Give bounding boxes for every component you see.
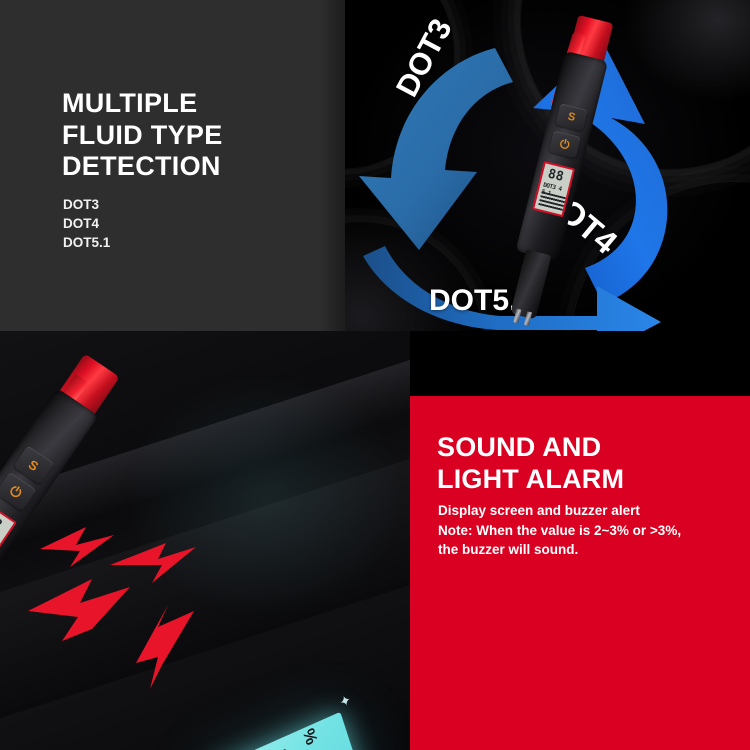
- fluid-type-list: DOT3 DOT4 DOT5.1: [63, 195, 323, 252]
- panel-multiple-fluid-type-detection: MULTIPLE FLUID TYPE DETECTION DOT3 DOT4 …: [0, 0, 345, 331]
- title-line-1: SOUND AND: [437, 432, 737, 464]
- body-line-1: Display screen and buzzer alert: [438, 501, 743, 521]
- panel-sound-and-light-alarm: SOUND AND LIGHT ALARM Display screen and…: [410, 396, 750, 750]
- lcd-unit: %: [298, 726, 321, 749]
- headline-line-2: FLUID TYPE: [62, 120, 332, 152]
- lightning-bolt-icon: [136, 605, 194, 689]
- product-feature-collage: MULTIPLE FLUID TYPE DETECTION DOT3 DOT4 …: [0, 0, 750, 750]
- panel-fluid-type-cycle: DOT3 DOT4 DOT5.1 S ⏻ 88 DOT3 4 5.1: [345, 0, 750, 331]
- panel-edge-shadow: [319, 0, 345, 331]
- lcd-value: 88: [299, 746, 349, 750]
- list-item: DOT3: [63, 195, 323, 214]
- headline-line-1: MULTIPLE: [62, 88, 332, 120]
- title-line-2: LIGHT ALARM: [437, 464, 737, 496]
- lightning-bolt-icon: [110, 543, 196, 583]
- list-item: DOT5.1: [63, 233, 323, 252]
- alarm-description: Display screen and buzzer alert Note: Wh…: [438, 501, 743, 560]
- headline-line-3: DETECTION: [62, 151, 332, 183]
- page-title: MULTIPLE FLUID TYPE DETECTION: [62, 88, 332, 183]
- lightning-bolt-icon: [28, 579, 130, 641]
- panel-alarm-photo: S ⏻ 88 DOT3 4 5.1 % 88 DOT 3 4 5.1: [0, 331, 410, 750]
- list-item: DOT4: [63, 214, 323, 233]
- body-line-2: Note: When the value is 2~3% or >3%,: [438, 521, 743, 541]
- arrow-dot3-shape: [359, 48, 513, 250]
- page-title: SOUND AND LIGHT ALARM: [437, 432, 737, 495]
- body-line-3: the buzzer will sound.: [438, 540, 743, 560]
